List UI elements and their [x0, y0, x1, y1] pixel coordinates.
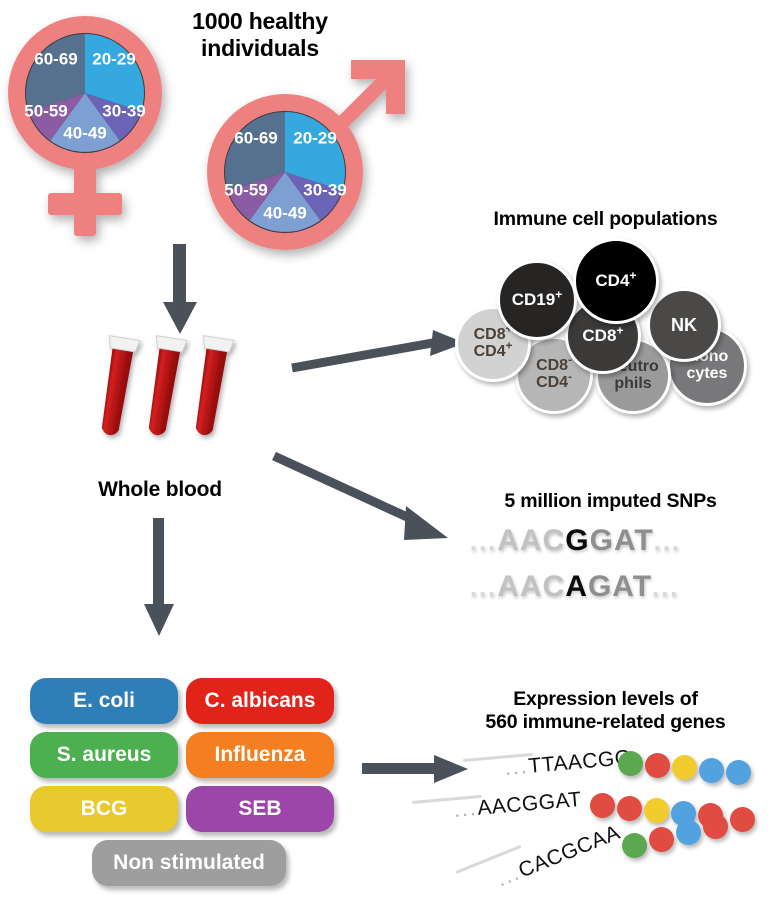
pie-label-40-49: 40-49 — [263, 203, 306, 222]
immune-bubble-label: NK — [671, 316, 697, 335]
dna-bead — [618, 751, 643, 776]
dna-sequence-bases: TTAACGG — [527, 746, 632, 778]
pie-label-50-59: 50-59 — [24, 101, 67, 120]
stimulus-box-s-aureus[interactable]: S. aureus — [30, 732, 178, 778]
stimulus-label: BCG — [81, 797, 128, 821]
dna-sequence-bases: AACGGAT — [476, 788, 582, 820]
snp-pre-2: AAC — [497, 570, 565, 603]
dna-bead — [617, 796, 642, 821]
stimulus-box-non-stimulated[interactable]: Non stimulated — [92, 840, 286, 886]
blood-tube-3 — [188, 336, 234, 438]
stimulus-label: S. aureus — [57, 743, 152, 767]
snp-lead-1: ... — [470, 528, 497, 556]
pie-label-20-29: 20-29 — [293, 128, 336, 147]
dna-bead — [649, 827, 674, 852]
arrow-cohort-to-blood — [150, 244, 210, 336]
dna-bead — [676, 820, 701, 845]
pie-label-30-39: 30-39 — [303, 180, 346, 199]
dna-sequence-2: ...AACGGAT — [453, 788, 583, 823]
stimulus-label: SEB — [238, 797, 281, 821]
stimulus-box-influenza[interactable]: Influenza — [186, 732, 334, 778]
stimulus-box-seb[interactable]: SEB — [186, 786, 334, 832]
immune-bubble-label: CD4+ — [595, 272, 636, 290]
expression-heading: Expression levels of 560 immune-related … — [440, 688, 771, 734]
immune-cell-bubbles: CD4+CD19+NKCD8+CD8+CD4+CD8-CD4-Neutrophi… — [455, 238, 771, 418]
dna-bead — [699, 758, 724, 783]
snp-tail-1: ... — [654, 528, 681, 556]
dna-bead — [644, 798, 669, 823]
whole-blood-label: Whole blood — [60, 478, 260, 503]
pie-label-20-29: 20-29 — [92, 49, 135, 68]
male-gender-symbol: 20-29 30-39 40-49 50-59 60-69 — [205, 52, 420, 257]
arrow-blood-to-stimuli — [130, 518, 190, 638]
dna-sequence-1: ...TTAACGG — [504, 746, 633, 781]
stimulus-label: E. coli — [73, 689, 135, 713]
blood-tubes — [95, 330, 270, 470]
dna-strands: ...TTAACGG...AACGGAT...CACGCAA — [450, 745, 771, 915]
blood-tube-1 — [95, 336, 140, 438]
figure-canvas: 1000 healthy individuals — [0, 0, 771, 922]
stimulus-box-c-albicans[interactable]: C. albicans — [186, 678, 334, 724]
arrow-blood-to-immune — [290, 330, 470, 375]
immune-bubble-cd19-positive[interactable]: CD19+ — [497, 260, 577, 340]
dna-sequence-3: ...CACGCAA — [494, 821, 624, 892]
stimulus-box-bcg[interactable]: BCG — [30, 786, 178, 832]
dna-bead — [726, 760, 751, 785]
dna-sequence-lead: ... — [504, 755, 529, 780]
snps-heading: 5 million imputed SNPs — [450, 490, 771, 513]
dna-sequence-lead: ... — [453, 797, 478, 822]
dna-bead — [645, 753, 670, 778]
immune-bubble-label: CD8+CD4+ — [474, 327, 513, 361]
snp-sequence-row-2: ...AACAGAT... — [470, 570, 679, 604]
stimulus-box-e-coli[interactable]: E. coli — [30, 678, 178, 724]
immune-bubble-cd4-positive[interactable]: CD4+ — [573, 238, 659, 324]
dna-bead — [622, 833, 647, 858]
snp-tail-2: ... — [652, 574, 679, 602]
snp-sequence-row-1: ...AACGGAT... — [470, 524, 681, 558]
pie-label-40-49: 40-49 — [63, 123, 106, 142]
female-gender-symbol: 20-29 30-39 40-49 50-59 60-69 — [8, 8, 208, 238]
dna-bead — [590, 793, 615, 818]
dna-bead — [730, 807, 755, 832]
pie-label-50-59: 50-59 — [224, 180, 267, 199]
blood-tube-2 — [141, 336, 187, 438]
dna-bead — [672, 755, 697, 780]
snp-post-1: GAT — [590, 524, 654, 557]
snp-variant-2: A — [565, 570, 588, 603]
snp-sequence-block: ...AACGGAT... ...AACAGAT... — [470, 524, 760, 614]
dna-bead — [703, 814, 728, 839]
pie-label-30-39: 30-39 — [102, 101, 145, 120]
pie-label-60-69: 60-69 — [234, 128, 277, 147]
immune-bubble-label: CD8-CD4- — [536, 358, 572, 392]
stimulus-label: Non stimulated — [113, 851, 265, 875]
arrow-blood-to-snps — [272, 450, 457, 545]
snp-pre-1: AAC — [497, 524, 565, 557]
expression-heading-line2: 560 immune-related genes — [440, 711, 771, 734]
expression-heading-line1: Expression levels of — [440, 688, 771, 711]
snp-variant-1: G — [565, 524, 589, 557]
immune-bubble-natural-killer[interactable]: NK — [647, 288, 721, 362]
immune-populations-heading: Immune cell populations — [440, 208, 771, 231]
snp-post-2: GAT — [588, 570, 652, 603]
dna-sequence-bases: CACGCAA — [515, 821, 623, 883]
snp-lead-2: ... — [470, 574, 497, 602]
pie-label-60-69: 60-69 — [34, 49, 77, 68]
stimulus-label: C. albicans — [205, 689, 316, 713]
immune-bubble-label: CD8+ — [582, 327, 623, 345]
immune-bubble-label: CD19+ — [512, 291, 563, 309]
stimulus-label: Influenza — [214, 743, 305, 767]
